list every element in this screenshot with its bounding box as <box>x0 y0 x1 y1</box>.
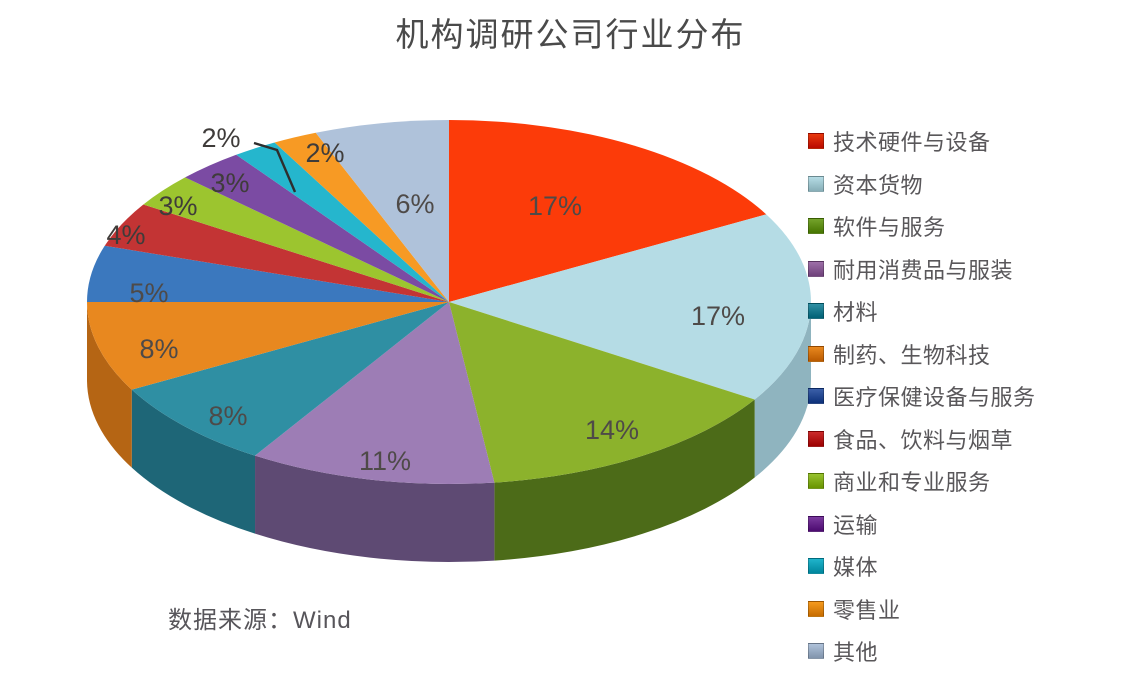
legend-swatch-icon <box>808 558 824 574</box>
legend-label: 软件与服务 <box>833 210 946 242</box>
legend-swatch-icon <box>808 176 824 192</box>
legend-item[interactable]: 零售业 <box>808 588 1108 631</box>
legend-item[interactable]: 技术硬件与设备 <box>808 120 1108 163</box>
legend-item[interactable]: 运输 <box>808 503 1108 546</box>
legend-item[interactable]: 资本货物 <box>808 163 1108 206</box>
slice-value-label: 8% <box>139 334 178 364</box>
legend-item[interactable]: 食品、饮料与烟草 <box>808 418 1108 461</box>
legend-item[interactable]: 软件与服务 <box>808 205 1108 248</box>
legend-label: 食品、饮料与烟草 <box>833 423 1013 455</box>
legend-item[interactable]: 其他 <box>808 630 1108 673</box>
legend-label: 资本货物 <box>833 168 923 200</box>
legend-label: 耐用消费品与服装 <box>833 253 1013 285</box>
legend-swatch-icon <box>808 601 824 617</box>
legend-label: 其他 <box>833 635 878 667</box>
legend-swatch-icon <box>808 388 824 404</box>
chart-title: 机构调研公司行业分布 <box>0 8 1141 56</box>
source-note: 数据来源：Wind <box>168 600 352 635</box>
legend-label: 运输 <box>833 508 878 540</box>
pie-chart-figure: Wind 机构调研公司行业分布 17%17%14%11%8%8%5%4%3%3%… <box>0 0 1141 670</box>
slice-value-label: 17% <box>528 191 582 221</box>
legend-label: 商业和专业服务 <box>833 465 991 497</box>
legend-swatch-icon <box>808 303 824 319</box>
legend-label: 医疗保健设备与服务 <box>833 380 1036 412</box>
legend-swatch-icon <box>808 643 824 659</box>
legend-item[interactable]: 材料 <box>808 290 1108 333</box>
legend-label: 材料 <box>833 295 878 327</box>
legend-item[interactable]: 医疗保健设备与服务 <box>808 375 1108 418</box>
slice-value-label: 2% <box>305 138 344 168</box>
slice-value-label: 11% <box>359 446 411 476</box>
slice-value-label: 3% <box>210 168 249 198</box>
legend-swatch-icon <box>808 218 824 234</box>
legend-item[interactable]: 耐用消费品与服装 <box>808 248 1108 291</box>
slice-value-label: 8% <box>208 401 247 431</box>
legend-swatch-icon <box>808 346 824 362</box>
legend-swatch-icon <box>808 133 824 149</box>
legend-item[interactable]: 商业和专业服务 <box>808 460 1108 503</box>
slice-value-label: 2% <box>201 123 240 153</box>
legend-swatch-icon <box>808 261 824 277</box>
legend-item[interactable]: 制药、生物科技 <box>808 333 1108 376</box>
legend-label: 媒体 <box>833 550 878 582</box>
legend-swatch-icon <box>808 431 824 447</box>
slice-value-label: 5% <box>129 278 168 308</box>
legend-swatch-icon <box>808 516 824 532</box>
legend-label: 制药、生物科技 <box>833 338 991 370</box>
chart-legend: 技术硬件与设备资本货物软件与服务耐用消费品与服装材料制药、生物科技医疗保健设备与… <box>808 120 1108 673</box>
slice-value-label: 3% <box>158 191 197 221</box>
legend-label: 技术硬件与设备 <box>833 125 991 157</box>
slice-value-label: 4% <box>106 220 145 250</box>
slice-value-label: 6% <box>395 189 434 219</box>
legend-swatch-icon <box>808 473 824 489</box>
legend-label: 零售业 <box>833 593 901 625</box>
slice-value-label: 14% <box>585 415 639 445</box>
legend-item[interactable]: 媒体 <box>808 545 1108 588</box>
slice-value-label: 17% <box>691 301 745 331</box>
